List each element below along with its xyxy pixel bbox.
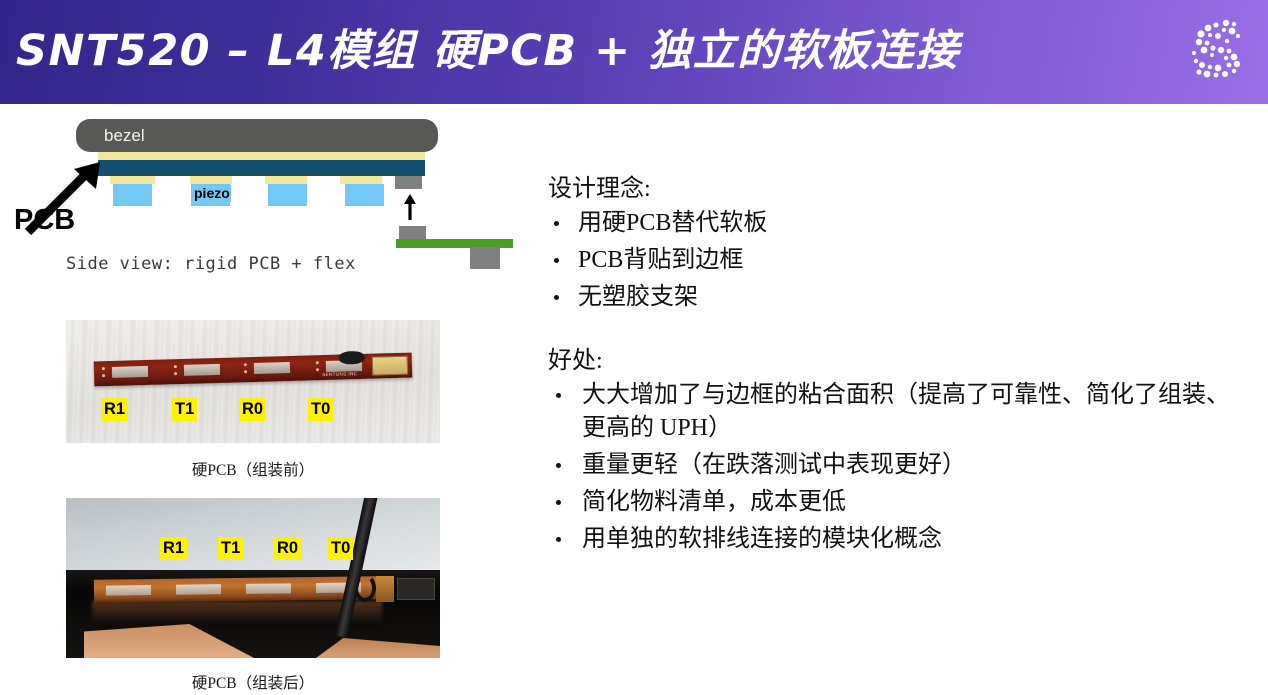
list-item: 重量更轻（在跌落测试中表现更好） <box>548 449 1248 482</box>
photo-image-after-assembly: R1 T1 R0 T0 <box>66 498 440 658</box>
list-item: 无塑胶支架 <box>548 281 1248 314</box>
pcb-via-shape <box>244 370 247 373</box>
solder-pad-shape <box>340 176 382 184</box>
pcb-via-shape <box>102 367 105 370</box>
bullet-dot-icon <box>556 537 561 542</box>
side-view-diagram: bezel piezo PCB Side view: rigid PCB + f… <box>0 104 520 289</box>
pcb-strip-shape: SENTONS INC <box>94 353 413 387</box>
pcb-component-shape <box>176 584 221 595</box>
photo-label-r0: R0 <box>239 398 266 421</box>
page-title: SNT520 – L4模组 硬PCB + 独立的软板连接 <box>16 20 960 82</box>
photo-caption-after: 硬PCB（组装后） <box>66 671 440 693</box>
benefits-heading: 好处: <box>548 340 1248 375</box>
pcb-component-shape <box>112 366 148 378</box>
list-item-label: 重量更轻（在跌落测试中表现更好） <box>582 452 966 478</box>
benefits-group: 好处: 大大增加了与边框的粘合面积（提高了可靠性、简化了组装、更高的 UPH） … <box>548 340 1248 556</box>
list-item-label: 用硬PCB替代软板 <box>578 210 767 236</box>
flex-pad-shape <box>376 576 394 602</box>
solder-pad-shape <box>110 176 155 184</box>
list-item: 用单独的软排线连接的模块化概念 <box>548 523 1248 556</box>
photo-label-t1: T1 <box>218 537 243 560</box>
photo-label-t0: T0 <box>328 537 353 560</box>
photo-label-t0: T0 <box>308 398 333 421</box>
photo-rigid-pcb-before: SENTONS INC R1 T1 R0 T0 硬PCB（组装前） <box>66 320 440 480</box>
bullet-dot-icon <box>556 500 561 505</box>
slide-header-banner: SNT520 – L4模组 硬PCB + 独立的软板连接 <box>0 0 1268 104</box>
content-text-column: 设计理念: 用硬PCB替代软板 PCB背贴到边框 无塑胶支架 好处: 大大增加了… <box>548 168 1248 582</box>
piezo-block-shape <box>113 184 152 206</box>
piezo-label: piezo <box>193 185 231 202</box>
flex-connector-left-shape <box>399 226 426 240</box>
pcb-via-shape <box>316 368 319 371</box>
benefits-list: 大大增加了与边框的粘合面积（提高了可靠性、简化了组装、更高的 UPH） 重量更轻… <box>548 379 1248 556</box>
solder-pad-shape <box>265 176 307 184</box>
photo-label-r1: R1 <box>101 398 128 421</box>
pcb-callout-label: PCB <box>14 204 75 237</box>
pcb-component-shape <box>254 362 290 374</box>
pcb-silkscreen-text: SENTONS INC <box>322 371 357 377</box>
photo-label-r1: R1 <box>160 537 187 560</box>
rigid-pcb-shape <box>98 160 425 176</box>
pcb-component-shape <box>184 364 220 376</box>
pcb-via-shape <box>174 365 177 368</box>
design-concept-group: 设计理念: 用硬PCB替代软板 PCB背贴到边框 无塑胶支架 <box>548 168 1248 314</box>
list-item: 用硬PCB替代软板 <box>548 207 1248 240</box>
list-item-label: 用单独的软排线连接的模块化概念 <box>582 526 942 552</box>
design-concept-list: 用硬PCB替代软板 PCB背贴到边框 无塑胶支架 <box>548 207 1248 314</box>
photo-caption-before: 硬PCB（组装前） <box>66 458 440 480</box>
list-item-label: 无塑胶支架 <box>578 284 698 310</box>
pcb-via-shape <box>316 361 319 364</box>
flex-connector-right-shape <box>470 247 500 269</box>
diagram-caption: Side view: rigid PCB + flex <box>66 254 356 274</box>
photo-image-before-assembly: SENTONS INC R1 T1 R0 T0 <box>66 320 440 443</box>
pcb-connector-shape <box>372 356 409 376</box>
photo-background-shape <box>66 498 440 570</box>
pcb-via-shape <box>174 372 177 375</box>
pcb-component-shape <box>106 585 151 596</box>
list-item-label: 简化物料清单，成本更低 <box>582 489 846 515</box>
dotted-s-logo-icon <box>1182 17 1252 87</box>
up-arrow-icon <box>400 194 420 220</box>
pcb-via-shape <box>102 374 105 377</box>
board-connector-shape <box>395 176 422 189</box>
piezo-block-shape <box>345 184 384 206</box>
list-item-label: 大大增加了与边框的粘合面积（提高了可靠性、简化了组装、更高的 UPH） <box>582 382 1230 441</box>
photo-label-t1: T1 <box>172 398 197 421</box>
solder-pad-shape <box>190 176 232 184</box>
photo-label-r0: R0 <box>274 537 301 560</box>
bullet-dot-icon <box>554 221 559 226</box>
photo-rigid-pcb-after: R1 T1 R0 T0 硬PCB（组装后） <box>66 498 440 693</box>
bullet-dot-icon <box>556 463 561 468</box>
bullet-dot-icon <box>556 393 561 398</box>
design-concept-heading: 设计理念: <box>548 168 1248 203</box>
list-item-label: PCB背贴到边框 <box>578 247 743 273</box>
bezel-label: bezel <box>104 126 145 146</box>
bullet-dot-icon <box>554 295 559 300</box>
piezo-block-shape <box>268 184 307 206</box>
list-item: PCB背贴到边框 <box>548 244 1248 277</box>
pcb-component-shape <box>246 583 291 594</box>
pcb-strip-shape <box>94 576 377 602</box>
bullet-dot-icon <box>554 258 559 263</box>
list-item: 简化物料清单，成本更低 <box>548 486 1248 519</box>
pcb-via-shape <box>244 363 247 366</box>
connector-holder-shape <box>397 578 435 600</box>
adhesive-layer-shape <box>98 152 425 160</box>
list-item: 大大增加了与边框的粘合面积（提高了可靠性、简化了组装、更高的 UPH） <box>548 379 1248 445</box>
